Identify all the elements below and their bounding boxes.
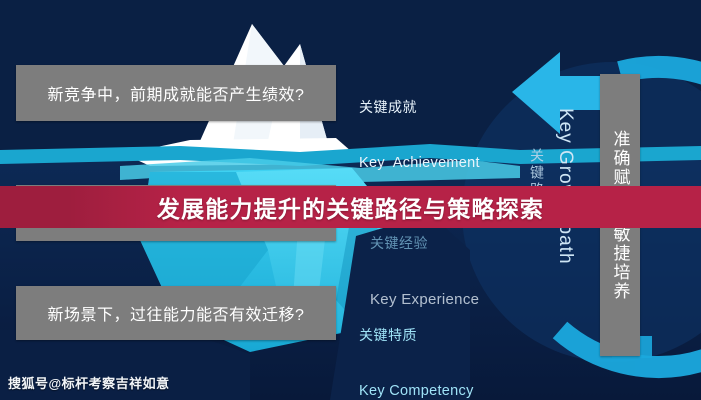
page-title: 发展能力提升的关键路径与策略探索 xyxy=(157,190,544,224)
label-key-competency-en: Key Competency xyxy=(359,383,474,400)
watermark: 搜狐号@标杆考察吉祥如意 xyxy=(8,373,170,392)
label-key-achievement-en: Key Achievement xyxy=(359,155,480,173)
iceberg-infographic: 关键成就 Key Achievement 关键经验 Key Experience… xyxy=(0,0,701,400)
callout-top: 新竞争中，前期成就能否产生绩效? xyxy=(16,65,336,121)
callout-bottom: 新场景下，过往能力能否有效迁移? xyxy=(16,286,336,340)
label-key-competency-cn: 关键特质 xyxy=(359,327,474,344)
label-key-achievement-cn: 关键成就 xyxy=(359,99,480,116)
label-key-experience-cn: 关键经验 xyxy=(370,235,479,252)
title-banner: 发展能力提升的关键路径与策略探索 xyxy=(0,186,701,228)
label-key-competency: 关键特质 Key Competency xyxy=(359,288,474,400)
